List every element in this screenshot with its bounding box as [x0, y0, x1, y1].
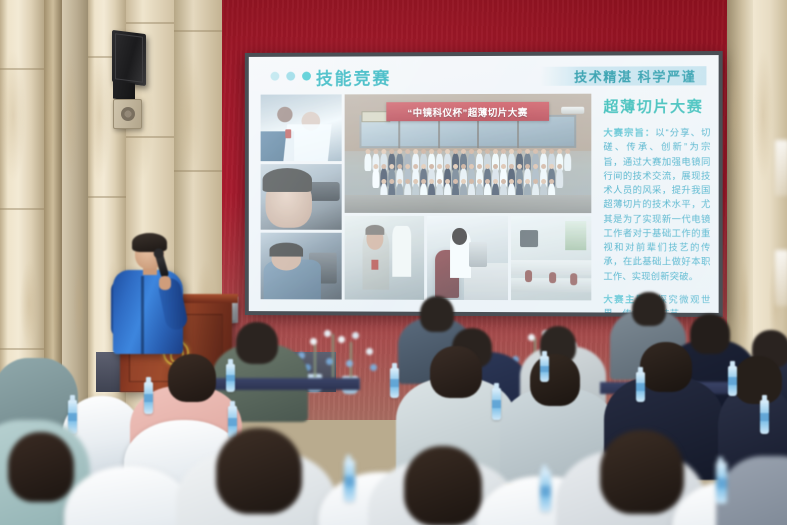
slicing-work-photo — [261, 233, 342, 300]
water-bottle — [716, 462, 727, 504]
slide-text-panel: 超薄切片大赛 大赛宗旨：以“分享、切磋、传承、创新”为宗旨，通过大赛加强电镜同行… — [599, 95, 710, 300]
small-speaker-icon — [113, 99, 142, 129]
water-bottle — [144, 382, 153, 414]
water-bottle — [344, 460, 355, 502]
competition-banner: “中镜科仪杯”超薄切片大赛 — [386, 102, 549, 121]
workstation-photo — [427, 216, 507, 300]
paragraph-1-text: 以“分享、切磋、传承、创新”为宗旨，通过大赛加强电镜同行间的技术交流，展现技术人… — [603, 128, 710, 282]
projection-screen: 技能竞赛 技术精湛 科学严谨 — [245, 51, 723, 317]
judging-photo — [345, 216, 425, 299]
wall-speaker-icon — [112, 30, 146, 86]
dot-mid-icon — [286, 72, 295, 81]
photo-left-column — [261, 94, 342, 299]
slide-title: 技能竞赛 — [316, 64, 391, 89]
audience-area — [0, 300, 787, 525]
dot-light-icon — [270, 72, 279, 81]
panel-title: 超薄切片大赛 — [603, 95, 710, 116]
laboratory-room-photo — [511, 216, 592, 300]
water-bottle — [540, 470, 551, 512]
water-bottle — [728, 366, 737, 396]
water-bottle — [636, 372, 645, 402]
lab-technician-photo — [261, 94, 342, 160]
slide-header: 技能竞赛 技术精湛 科学严谨 — [249, 55, 719, 95]
slide-motto-band: 技术精湛 科学严谨 — [540, 66, 707, 86]
slide-motto: 技术精湛 科学严谨 — [574, 66, 696, 85]
panel-paragraph-1: 大赛宗旨：以“分享、切磋、传承、创新”为宗旨，通过大赛加强电镜同行间的技术交流，… — [603, 126, 710, 284]
water-bottle — [492, 388, 501, 420]
photo-right-column: “中镜科仪杯”超薄切片大赛 — [345, 94, 592, 301]
water-bottle — [226, 364, 235, 392]
water-bottle — [760, 400, 769, 434]
group-photo-participants: “中镜科仪杯”超薄切片大赛 — [345, 94, 592, 214]
photo-bottom-row — [345, 216, 592, 300]
dot-dark-icon — [302, 72, 311, 81]
banner-text: “中镜科仪杯”超薄切片大赛 — [407, 105, 527, 119]
header-dots — [270, 72, 310, 81]
microscope-operator-photo — [261, 164, 342, 230]
conference-scene: 技能竞赛 技术精湛 科学严谨 — [0, 0, 787, 525]
paragraph-1-label: 大赛宗旨： — [603, 128, 655, 138]
water-bottle — [540, 356, 549, 382]
water-bottle — [390, 368, 399, 398]
slide-body: “中镜科仪杯”超薄切片大赛 — [249, 93, 719, 305]
photo-collage: “中镜科仪杯”超薄切片大赛 — [261, 94, 592, 301]
